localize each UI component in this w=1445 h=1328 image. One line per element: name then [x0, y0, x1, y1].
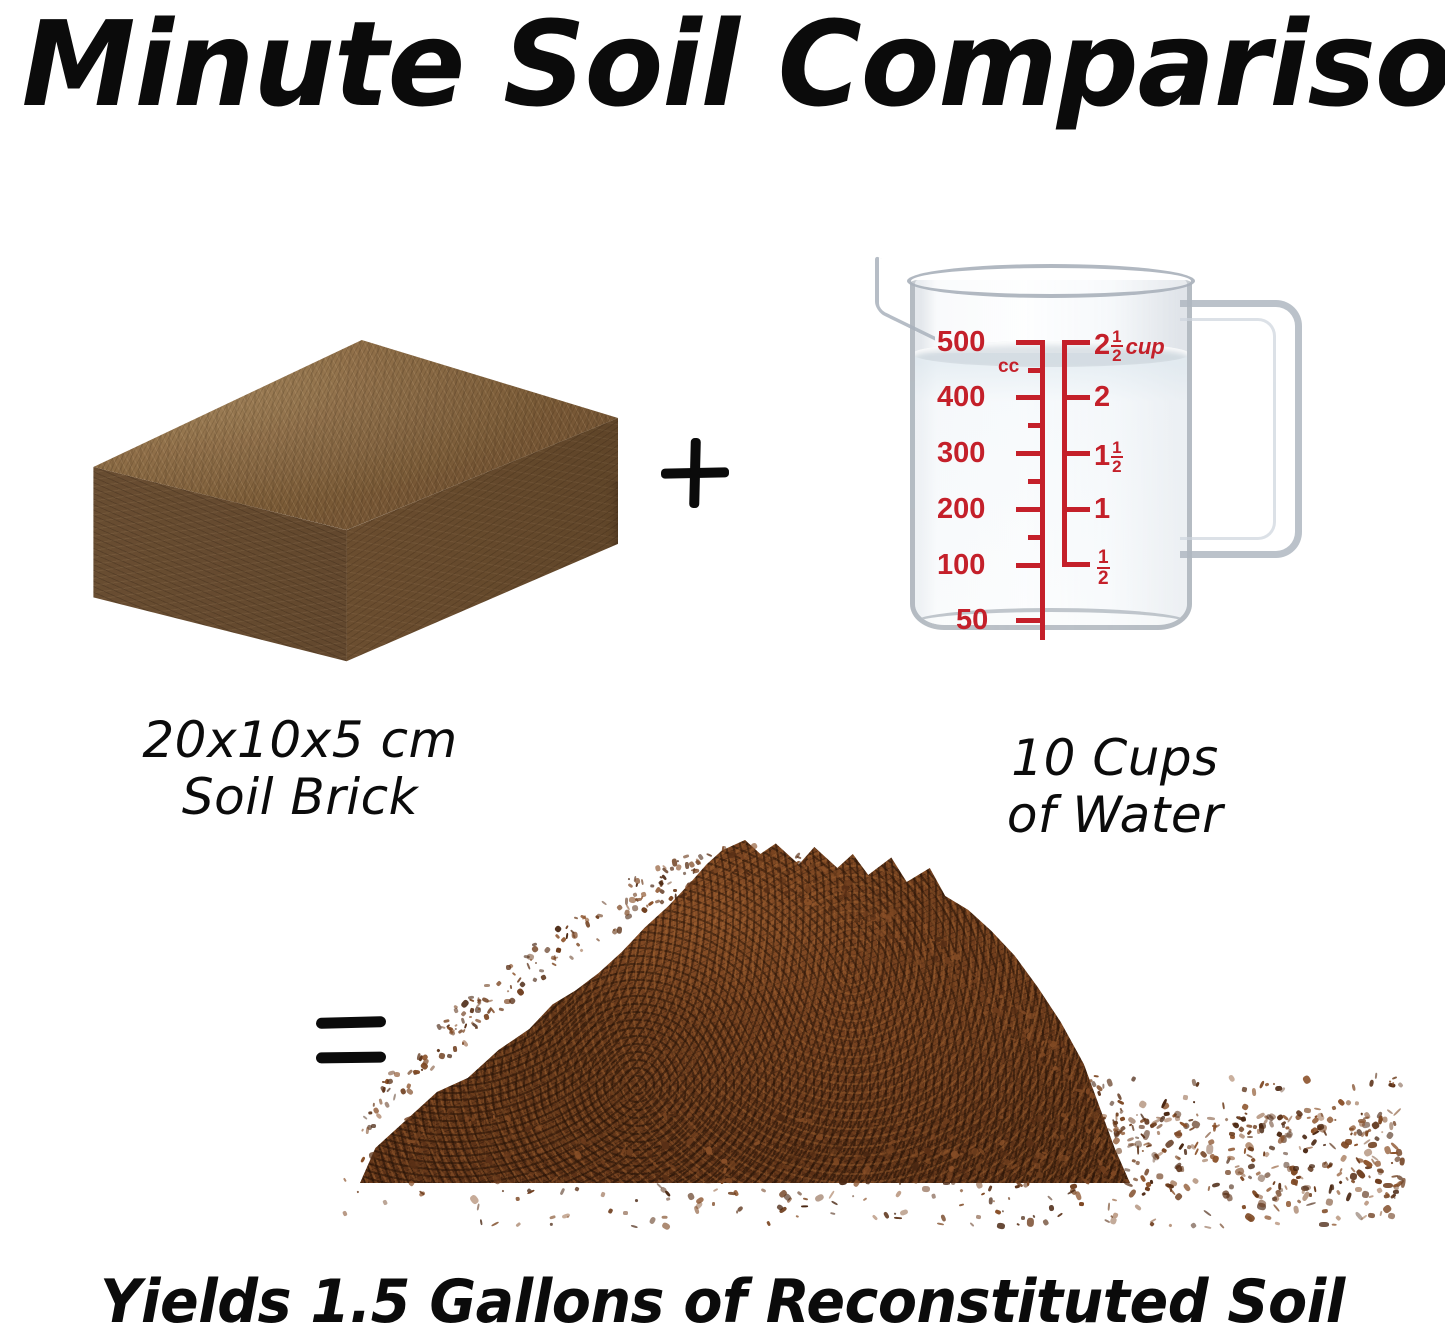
soil-speck: [897, 1123, 901, 1126]
soil-speck: [516, 1113, 522, 1119]
soil-speck: [1244, 1112, 1248, 1115]
soil-speck: [838, 1150, 845, 1156]
soil-speck: [529, 1172, 535, 1177]
tick-cup-2: [1062, 395, 1090, 400]
soil-speck: [1036, 1034, 1040, 1038]
soil-speck: [1074, 1190, 1082, 1200]
soil-speck: [783, 890, 790, 895]
soil-speck: [1021, 1216, 1026, 1220]
soil-speck: [640, 878, 644, 885]
soil-speck: [853, 1179, 861, 1188]
soil-speck: [1009, 1028, 1015, 1034]
soil-speck: [1301, 1075, 1311, 1085]
scale-rail-cc: [1040, 340, 1045, 640]
soil-speck: [469, 1016, 472, 1018]
soil-speck: [1244, 1212, 1256, 1223]
soil-speck: [1098, 1091, 1102, 1096]
soil-speck: [1135, 1160, 1140, 1165]
soil-speck: [1104, 1218, 1110, 1223]
soil-speck: [828, 895, 831, 900]
soil-speck: [721, 846, 726, 853]
soil-speck: [1307, 1116, 1311, 1118]
soil-speck: [979, 995, 985, 1002]
soil-speck: [848, 898, 852, 905]
soil-speck: [1086, 1128, 1091, 1133]
soil-speck: [837, 913, 841, 917]
soil-speck: [1103, 1084, 1105, 1089]
soil-speck: [909, 919, 913, 922]
soil-speck: [592, 1160, 598, 1168]
soil-speck: [717, 887, 721, 890]
soil-speck: [469, 999, 474, 1002]
soil-speck: [793, 1145, 797, 1149]
soil-speck: [595, 1176, 603, 1181]
soil-speck: [1262, 1118, 1267, 1124]
soil-speck: [1323, 1144, 1326, 1146]
soil-speck: [560, 937, 566, 943]
soil-speck: [830, 1148, 838, 1154]
soil-speck: [1222, 1102, 1225, 1109]
soil-speck: [670, 866, 674, 871]
soil-speck: [897, 1117, 902, 1121]
soil-speck: [1055, 1113, 1059, 1117]
soil-speck: [1135, 1140, 1143, 1149]
soil-speck: [766, 1220, 771, 1225]
soil-speck: [1374, 1073, 1376, 1079]
soil-speck: [357, 1191, 360, 1194]
soil-speck: [1041, 1040, 1045, 1045]
soil-speck: [923, 923, 927, 929]
soil-speck: [1195, 1082, 1200, 1088]
soil-speck: [1298, 1146, 1301, 1150]
soil-speck: [1393, 1107, 1401, 1115]
soil-speck: [544, 1160, 547, 1164]
soil-speck: [1224, 1118, 1228, 1122]
soil-speck: [1178, 1129, 1181, 1131]
soil-speck: [1002, 1005, 1008, 1008]
soil-speck: [626, 1148, 634, 1157]
soil-speck: [1400, 1178, 1405, 1189]
soil-speck: [1293, 1165, 1299, 1170]
soil-speck: [1386, 1108, 1393, 1114]
soil-speck: [961, 984, 968, 988]
soil-speck: [1061, 1161, 1064, 1168]
soil-speck: [554, 934, 560, 940]
soil-speck: [939, 1149, 948, 1157]
soil-speck: [815, 903, 818, 906]
soil-speck: [655, 1174, 660, 1182]
soil-speck: [976, 1215, 981, 1220]
soil-speck: [867, 1179, 870, 1182]
soil-speck: [1121, 1131, 1126, 1135]
soil-speck: [631, 1224, 638, 1228]
soil-speck: [650, 885, 654, 888]
soil-speck: [379, 1098, 383, 1104]
soil-speck: [740, 847, 742, 849]
soil-speck: [682, 892, 687, 896]
soil-speck: [1190, 1221, 1197, 1228]
plus-operator-icon: [659, 437, 731, 509]
soil-speck: [675, 894, 677, 901]
soil-speck: [1026, 1018, 1030, 1022]
soil-speck: [588, 1137, 595, 1146]
soil-speck: [844, 880, 851, 886]
soil-speck: [782, 1165, 790, 1169]
soil-speck: [983, 1010, 988, 1014]
soil-speck: [851, 1195, 854, 1198]
soil-speck: [899, 1182, 901, 1184]
soil-speck: [523, 1124, 533, 1133]
soil-speck: [894, 1217, 902, 1219]
soil-speck: [501, 1190, 504, 1193]
soil-speck: [1145, 1186, 1151, 1192]
soil-speck: [476, 1204, 480, 1211]
soil-speck: [1389, 1080, 1391, 1082]
soil-speck: [725, 1178, 732, 1184]
soil-speck: [914, 1175, 918, 1183]
soil-speck: [616, 903, 623, 910]
soil-speck: [814, 1194, 825, 1204]
soil-speck: [978, 1148, 985, 1156]
soil-speck: [1120, 1125, 1126, 1131]
soil-speck: [543, 946, 550, 953]
soil-speck: [1026, 1218, 1033, 1227]
soil-speck: [1060, 1081, 1064, 1084]
soil-speck: [1164, 1112, 1170, 1117]
soil-speck: [627, 883, 633, 889]
soil-speck: [828, 1191, 834, 1199]
soil-speck: [1252, 1088, 1257, 1096]
soil-speck: [1098, 1160, 1103, 1166]
soil-speck: [1353, 1143, 1357, 1146]
soil-speck: [803, 1198, 808, 1201]
soil-speck: [453, 1007, 459, 1013]
soil-speck: [975, 1163, 981, 1171]
soil-speck: [1123, 1181, 1133, 1187]
soil-speck: [976, 1005, 982, 1011]
tick-cup-1-5: [1062, 451, 1090, 456]
soil-speck: [1206, 1145, 1214, 1155]
soil-speck: [1336, 1189, 1341, 1195]
soil-speck: [363, 1115, 368, 1120]
soil-speck: [942, 1119, 950, 1125]
soil-speck: [445, 1110, 450, 1118]
soil-speck: [509, 985, 512, 990]
soil-speck: [1016, 1223, 1019, 1226]
soil-speck: [1065, 1054, 1069, 1058]
soil-speck: [1241, 1205, 1246, 1210]
soil-speck: [408, 1140, 416, 1144]
soil-speck: [1095, 1114, 1098, 1118]
soil-speck: [721, 1158, 728, 1164]
soil-speck: [1331, 1223, 1336, 1226]
soil-speck: [384, 1101, 390, 1108]
soil-speck: [976, 984, 979, 987]
soil-speck: [763, 886, 770, 894]
soil-speck: [809, 1150, 817, 1158]
soil-speck: [695, 884, 701, 890]
soil-speck: [645, 1151, 653, 1159]
soil-speck: [530, 945, 539, 954]
tick-cc-minor-150: [1028, 535, 1045, 540]
soil-speck: [1011, 1121, 1016, 1127]
soil-speck: [744, 1137, 746, 1139]
soil-speck: [1354, 1100, 1359, 1105]
soil-speck: [1204, 1131, 1211, 1138]
soil-speck: [1089, 1093, 1096, 1100]
soil-speck: [994, 1209, 1001, 1215]
soil-speck: [1007, 1197, 1010, 1200]
soil-speck: [1286, 1130, 1294, 1139]
soil-speck: [723, 1167, 727, 1174]
soil-speck: [1256, 1129, 1259, 1134]
soil-speck: [1042, 1219, 1049, 1226]
soil-speck: [705, 887, 710, 890]
soil-speck: [1138, 1100, 1147, 1109]
soil-speck: [915, 1149, 918, 1157]
soil-speck: [475, 1019, 482, 1024]
soil-speck: [634, 1124, 637, 1127]
soil-speck: [866, 922, 871, 926]
soil-speck: [877, 893, 883, 897]
soil-speck: [1272, 1181, 1275, 1185]
soil-speck: [690, 880, 696, 884]
soil-speck: [713, 1187, 719, 1191]
soil-speck: [1152, 1154, 1156, 1163]
soil-speck: [1284, 1185, 1288, 1191]
label-cc-100: 100: [937, 551, 985, 580]
tick-cup-0-5: [1062, 562, 1090, 567]
soil-speck: [653, 1161, 657, 1165]
soil-speck: [574, 916, 579, 919]
soil-speck: [802, 1177, 807, 1183]
soil-speck: [1067, 1074, 1075, 1081]
soil-speck: [516, 987, 525, 996]
soil-speck: [1089, 1116, 1094, 1120]
soil-speck: [1285, 1126, 1289, 1129]
soil-speck: [436, 1024, 442, 1031]
soil-speck: [960, 1188, 964, 1192]
page-title: Minute Soil Comparison: [22, 0, 1424, 134]
soil-speck: [685, 1112, 692, 1119]
soil-speck: [506, 989, 509, 992]
soil-speck: [874, 909, 876, 913]
soil-speck: [1032, 1215, 1035, 1219]
soil-speck: [546, 1153, 551, 1156]
soil-speck: [1325, 1198, 1333, 1206]
soil-speck: [506, 1133, 514, 1140]
soil-speck: [907, 923, 912, 929]
soil-speck: [342, 1211, 348, 1217]
soil-speck: [1133, 1177, 1139, 1182]
soil-speck: [904, 935, 910, 942]
soil-speck: [455, 1024, 459, 1027]
soil-speck: [491, 1221, 499, 1226]
soil-speck: [931, 1135, 936, 1141]
soil-speck: [899, 941, 905, 944]
soil-speck: [1368, 1128, 1372, 1132]
soil-speck: [1035, 1145, 1039, 1150]
soil-speck: [1390, 1152, 1398, 1154]
soil-speck: [863, 1153, 869, 1158]
soil-speck: [1273, 1083, 1276, 1086]
soil-speck: [479, 1219, 482, 1225]
soil-speck: [383, 1199, 389, 1205]
tick-cc-500: [1016, 340, 1045, 345]
soil-speck: [839, 1178, 848, 1185]
label-cc-400: 400: [937, 383, 985, 412]
soil-speck: [1264, 1152, 1270, 1158]
soil-speck: [1271, 1165, 1280, 1169]
soil-speck: [666, 1197, 670, 1201]
soil-speck: [1391, 1161, 1394, 1164]
soil-speck: [762, 870, 768, 874]
soil-speck: [781, 1148, 786, 1153]
label-cc-500: 500: [937, 328, 985, 357]
soil-speck: [1266, 1187, 1273, 1193]
soil-speck: [1336, 1215, 1342, 1221]
soil-speck: [1119, 1109, 1124, 1114]
soil-speck: [628, 878, 631, 881]
soil-speck: [877, 928, 886, 936]
soil-speck: [386, 1087, 390, 1092]
soil-speck: [951, 962, 955, 968]
soil-speck: [888, 932, 892, 939]
soil-speck: [1027, 1172, 1033, 1176]
soil-speck: [712, 1202, 715, 1206]
soil-speck: [729, 1161, 736, 1170]
soil-speck: [1247, 1136, 1253, 1139]
soil-speck: [1135, 1114, 1137, 1116]
soil-speck: [815, 1134, 823, 1140]
soil-speck: [776, 1113, 784, 1122]
soil-speck: [1127, 1137, 1135, 1142]
soil-speck: [985, 1129, 991, 1133]
soil-speck: [1112, 1198, 1117, 1201]
soil-speck: [580, 948, 584, 952]
soil-speck: [981, 1192, 986, 1196]
soil-speck: [553, 925, 561, 933]
soil-speck: [502, 1151, 511, 1160]
soil-speck: [1302, 1134, 1309, 1141]
soil-speck: [1331, 1106, 1336, 1111]
soil-speck: [1374, 1135, 1381, 1141]
soil-speck: [970, 984, 975, 988]
soil-speck: [460, 1018, 465, 1024]
soil-speck: [1194, 1142, 1199, 1149]
soil-speck: [1149, 1180, 1152, 1184]
soil-speck: [1292, 1205, 1299, 1214]
soil-speck: [1099, 1138, 1105, 1144]
soil-speck: [1040, 1057, 1044, 1062]
soil-speck: [984, 986, 986, 991]
soil-speck: [417, 1149, 423, 1151]
soil-speck: [601, 1191, 606, 1197]
soil-speck: [533, 978, 538, 983]
soil-speck: [1071, 1091, 1074, 1093]
soil-speck: [1228, 1074, 1236, 1083]
soil-speck: [498, 1008, 504, 1012]
soil-speck: [569, 955, 575, 961]
soil-speck: [461, 1128, 466, 1133]
soil-speck: [808, 882, 812, 887]
soil-speck: [687, 896, 693, 901]
soil-speck: [728, 1192, 736, 1196]
soil-speck: [667, 895, 673, 901]
soil-speck: [926, 1160, 932, 1164]
soil-speck: [634, 1198, 638, 1202]
soil-speck: [446, 1053, 452, 1058]
soil-speck: [1375, 1178, 1383, 1184]
soil-speck: [893, 915, 896, 918]
soil-speck: [539, 969, 545, 973]
soil-speck: [1247, 1163, 1255, 1170]
label-cup-2-5-fraction: 12: [1111, 328, 1122, 365]
soil-speck: [485, 1158, 492, 1164]
soil-speck: [1311, 1138, 1318, 1146]
soil-speck: [950, 1112, 956, 1118]
soil-speck: [819, 865, 827, 873]
tick-cup-2-5: [1062, 340, 1090, 345]
soil-speck: [641, 907, 649, 915]
soil-speck: [925, 942, 931, 948]
soil-speck: [1193, 1100, 1196, 1103]
soil-speck: [492, 1175, 502, 1185]
soil-speck: [574, 1187, 579, 1192]
soil-speck: [914, 1128, 919, 1131]
soil-speck: [533, 1160, 538, 1165]
soil-speck: [1184, 1149, 1187, 1155]
plus-vertical-stroke: [689, 438, 701, 508]
soil-speck: [854, 1153, 864, 1162]
soil-speck: [1072, 1144, 1076, 1147]
soil-speck: [754, 876, 760, 881]
soil-speck: [1273, 1204, 1280, 1212]
soil-speck: [1040, 1051, 1046, 1056]
soil-speck: [660, 1222, 670, 1231]
soil-speck: [932, 1170, 935, 1178]
soil-speck: [792, 877, 798, 883]
soil-speck: [551, 1176, 559, 1183]
soil-speck: [1255, 1193, 1259, 1196]
soil-speck: [1128, 1189, 1137, 1199]
soil-speck: [1204, 1226, 1211, 1229]
reconstituted-soil-pile-image: [300, 825, 1410, 1240]
tick-cc-50: [1016, 618, 1045, 623]
soil-speck: [1229, 1131, 1235, 1136]
soil-speck: [1350, 1167, 1355, 1172]
soil-speck: [899, 1208, 908, 1215]
soil-speck: [552, 962, 557, 966]
soil-speck: [1385, 1131, 1394, 1140]
soil-speck: [1221, 1189, 1230, 1199]
label-cup-2: 2: [1094, 383, 1110, 412]
soil-speck: [969, 1222, 974, 1227]
soil-speck: [821, 905, 826, 909]
soil-speck: [1194, 1149, 1198, 1156]
soil-speck: [1065, 1068, 1070, 1072]
soil-speck: [1367, 1141, 1377, 1148]
soil-speck: [430, 1065, 436, 1071]
soil-speck: [1156, 1173, 1163, 1179]
soil-speck: [987, 996, 991, 1004]
soil-speck: [1306, 1202, 1316, 1207]
soil-speck: [508, 996, 517, 1005]
soil-speck: [827, 1117, 830, 1120]
soil-speck: [576, 1124, 581, 1129]
soil-speck: [987, 1185, 992, 1192]
soil-speck: [632, 892, 637, 897]
